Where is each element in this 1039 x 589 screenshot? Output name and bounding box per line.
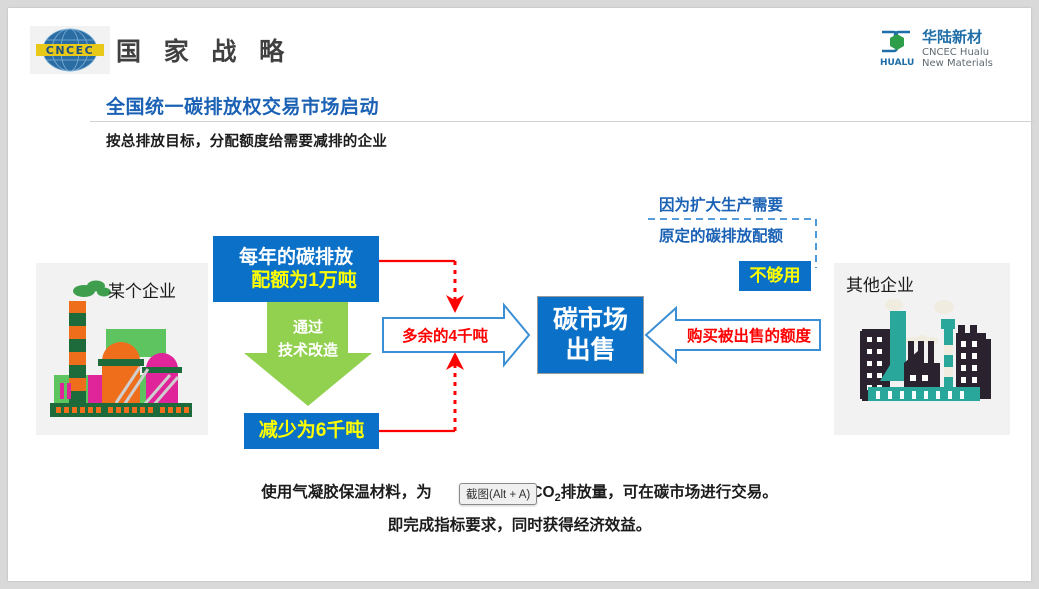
reduced-emission-box[interactable]: 减少为6千吨	[244, 413, 379, 449]
footer-1a: 使用气凝胶保温材料，	[261, 484, 416, 501]
annual-quota-box[interactable]: 每年的碳排放 配额为1万吨	[213, 236, 379, 302]
expansion-note-line1: 因为扩大生产需要	[659, 193, 783, 215]
svg-text:CNCEC Hualu: CNCEC Hualu	[922, 47, 989, 58]
annual-quota-line1: 每年的碳排放	[239, 246, 353, 269]
cncec-logo-icon: CNCEC	[30, 26, 110, 74]
hualu-logo-icon: HUALU 华陆新材 CNCEC Hualu New Materials	[875, 24, 1015, 70]
svg-text:CNCEC: CNCEC	[46, 44, 94, 57]
reduced-emission-label: 减少为6千吨	[259, 419, 365, 442]
green-arrow-line1: 通过	[293, 319, 323, 336]
carbon-market-sell-box[interactable]: 碳市场 出售	[537, 296, 644, 374]
page-subtitle: 按总排放目标，分配额度给需要减排的企业	[106, 130, 387, 151]
screenshot-capture-chip[interactable]: 截图(Alt + A)	[459, 483, 537, 505]
carbon-market-line1: 碳市场	[553, 305, 628, 336]
brand-title-cn: 国 家 战 略	[116, 32, 291, 68]
footer-line-2: 即完成指标要求，同时获得经济效益。	[8, 513, 1031, 535]
footer-1b: 为	[416, 484, 432, 501]
expansion-note-line2: 原定的碳排放配额	[659, 224, 783, 246]
title-divider	[90, 121, 1035, 122]
footer-1d: 排放量，可在碳市场进行交易。	[561, 484, 778, 501]
svg-text:New Materials: New Materials	[922, 58, 993, 69]
slide-canvas: CNCEC 国 家 战 略 HUALU 华陆新材 CNCEC Hualu New…	[8, 8, 1031, 581]
svg-text:HUALU: HUALU	[880, 58, 914, 68]
left-enterprise-panel: 某个企业	[36, 263, 208, 435]
purchase-arrow-label-group: 购买被出售的额度	[678, 320, 820, 350]
page-title: 全国统一碳排放权交易市场启动	[106, 92, 379, 119]
green-arrow-line2: 技术改造	[278, 342, 338, 359]
carbon-market-line2: 出售	[565, 335, 615, 366]
surplus-arrow-label-group: 多余的4千吨	[386, 318, 504, 352]
annual-quota-line2: 配额为1万吨	[235, 269, 357, 292]
svg-text:华陆新材: 华陆新材	[922, 28, 982, 46]
right-enterprise-panel: 其他企业	[834, 263, 1010, 435]
purchase-arrow-label: 购买被出售的额度	[678, 320, 820, 350]
not-enough-label: 不够用	[750, 266, 801, 287]
surplus-arrow-label: 多余的4千吨	[386, 318, 504, 352]
left-enterprise-label: 某个企业	[108, 277, 176, 302]
not-enough-box[interactable]: 不够用	[739, 261, 811, 291]
right-enterprise-label: 其他企业	[846, 271, 914, 296]
